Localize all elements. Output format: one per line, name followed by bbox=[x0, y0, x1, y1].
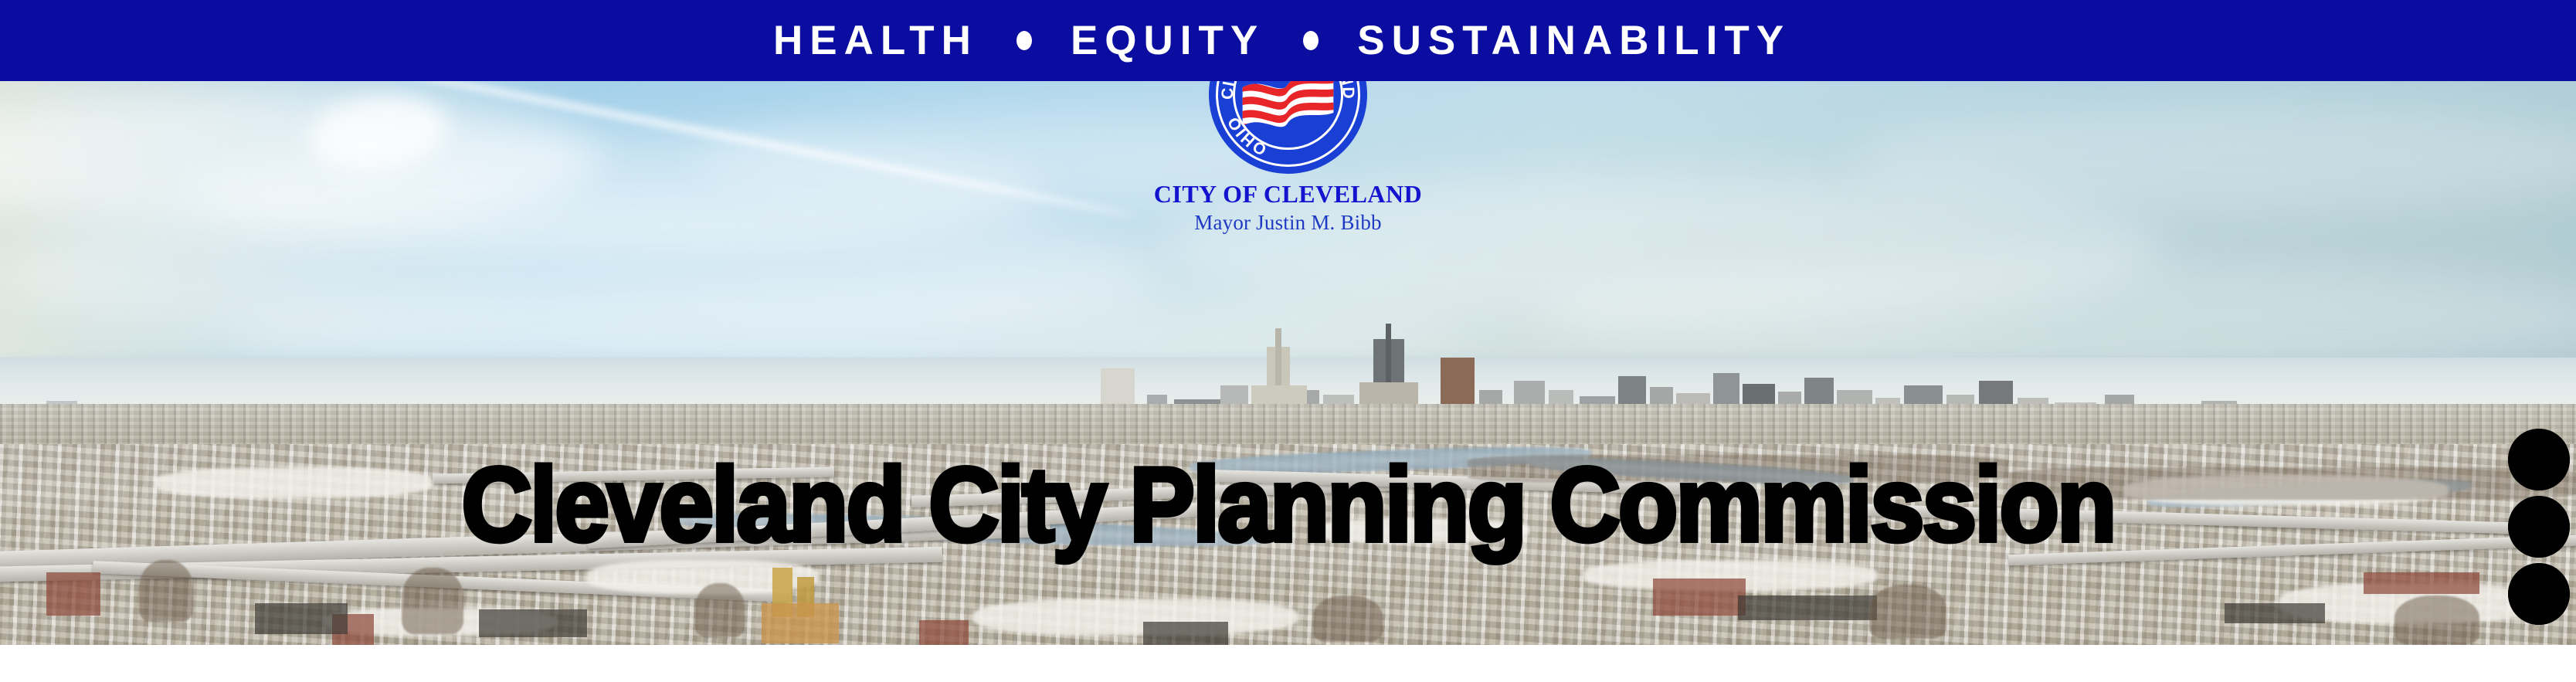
youtube-link[interactable] bbox=[2508, 429, 2570, 490]
tagline-banner: HEALTH EQUITY SUSTAINABILITY bbox=[0, 0, 2576, 81]
tagline-word-equity: EQUITY bbox=[1071, 20, 1264, 61]
brick-building bbox=[46, 572, 100, 616]
bare-tree bbox=[695, 583, 745, 637]
bare-tree bbox=[1869, 585, 1946, 639]
tagline-word-health: HEALTH bbox=[773, 20, 978, 61]
tagline-banner-inner: HEALTH EQUITY SUSTAINABILITY bbox=[773, 20, 1790, 61]
snow-patch bbox=[973, 599, 1298, 636]
bullet-dot-icon bbox=[1016, 31, 1032, 50]
bare-tree bbox=[1313, 595, 1383, 642]
brick-building bbox=[1653, 579, 1746, 616]
page-title: Cleveland City Planning Commission bbox=[461, 452, 2114, 557]
social-links bbox=[2508, 429, 2570, 625]
tagline-word-sustainability: SUSTAINABILITY bbox=[1357, 20, 1790, 61]
dark-roof bbox=[1738, 595, 1877, 620]
brick-building bbox=[919, 620, 969, 645]
bare-tree bbox=[2394, 595, 2479, 645]
bare-tree bbox=[402, 568, 463, 634]
dark-roof bbox=[2225, 603, 2325, 623]
brick-building bbox=[2364, 572, 2479, 594]
church-body bbox=[762, 603, 839, 643]
dark-roof bbox=[255, 603, 348, 634]
instagram-icon bbox=[2508, 496, 2570, 558]
facebook-link[interactable] bbox=[2508, 563, 2570, 625]
dark-roof bbox=[1143, 622, 1228, 645]
facebook-icon bbox=[2508, 563, 2570, 625]
bullet-dot-icon bbox=[1303, 31, 1319, 50]
org-subtitle: Mayor Justin M. Bibb bbox=[1194, 211, 1382, 235]
page-title-wrapper: Cleveland City Planning Commission bbox=[0, 452, 2576, 557]
org-name: CITY OF CLEVELAND bbox=[1154, 182, 1423, 208]
dark-roof bbox=[479, 609, 587, 637]
youtube-icon bbox=[2508, 429, 2570, 490]
bare-tree bbox=[139, 560, 193, 622]
instagram-link[interactable] bbox=[2508, 496, 2570, 558]
bottom-white-strip bbox=[0, 645, 2576, 682]
